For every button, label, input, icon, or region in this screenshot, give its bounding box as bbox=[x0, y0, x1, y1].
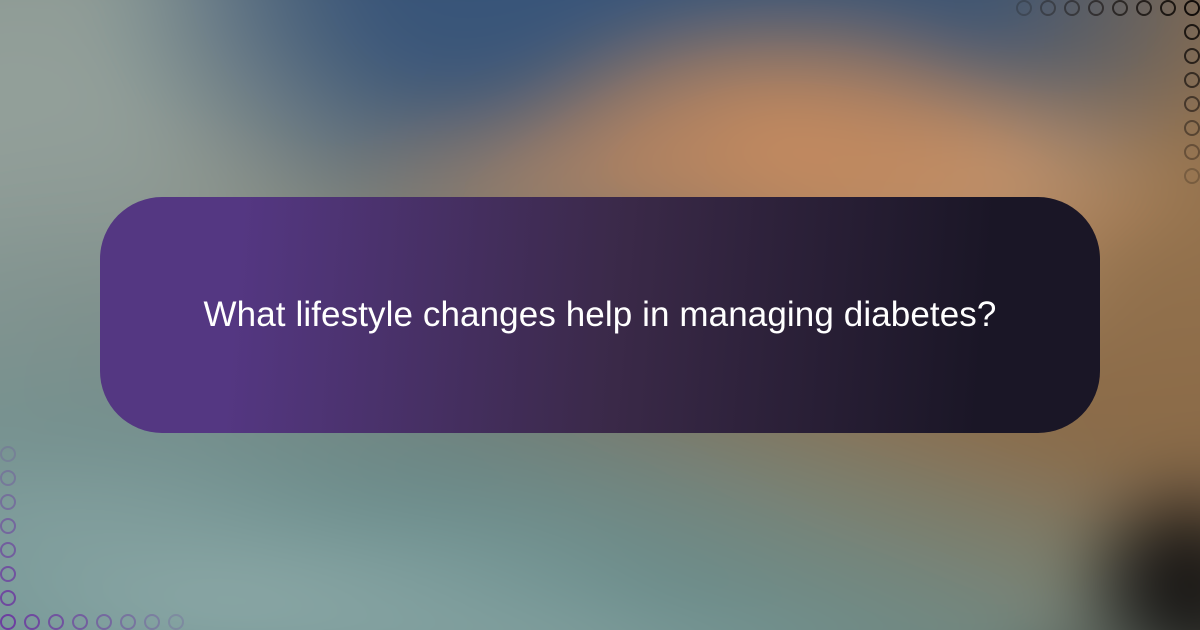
decorative-dot bbox=[0, 470, 16, 486]
decorative-dot bbox=[1160, 0, 1176, 16]
decorative-dot bbox=[0, 614, 16, 630]
decorative-dot bbox=[1112, 0, 1128, 16]
decorative-dot bbox=[1184, 48, 1200, 64]
decorative-dot bbox=[168, 614, 184, 630]
decorative-dot bbox=[24, 614, 40, 630]
decorative-dot bbox=[48, 614, 64, 630]
decorative-dot bbox=[0, 542, 16, 558]
decorative-dot bbox=[1136, 0, 1152, 16]
decorative-dot bbox=[1088, 0, 1104, 16]
decorative-dot bbox=[1184, 120, 1200, 136]
decorative-dot bbox=[1184, 144, 1200, 160]
decorative-dot bbox=[1184, 24, 1200, 40]
decorative-dot bbox=[0, 494, 16, 510]
decorative-dot bbox=[72, 614, 88, 630]
decorative-dot bbox=[0, 446, 16, 462]
decorative-dot bbox=[0, 566, 16, 582]
decorative-dot bbox=[1184, 72, 1200, 88]
question-card[interactable]: What lifestyle changes help in managing … bbox=[100, 197, 1100, 433]
decorative-dot bbox=[1184, 168, 1200, 184]
decorative-dot bbox=[1016, 0, 1032, 16]
decorative-dot bbox=[120, 614, 136, 630]
decorative-dot bbox=[1184, 96, 1200, 112]
decorative-dot bbox=[1184, 0, 1200, 16]
question-text: What lifestyle changes help in managing … bbox=[186, 288, 1014, 341]
share-card-canvas: What lifestyle changes help in managing … bbox=[0, 0, 1200, 630]
decorative-dot bbox=[0, 518, 16, 534]
decorative-dot bbox=[1040, 0, 1056, 16]
dot-grid-top-right bbox=[990, 0, 1200, 210]
dot-grid-bottom-left bbox=[0, 420, 210, 630]
decorative-dot bbox=[0, 590, 16, 606]
decorative-dot bbox=[96, 614, 112, 630]
decorative-dot bbox=[1064, 0, 1080, 16]
decorative-dot bbox=[144, 614, 160, 630]
